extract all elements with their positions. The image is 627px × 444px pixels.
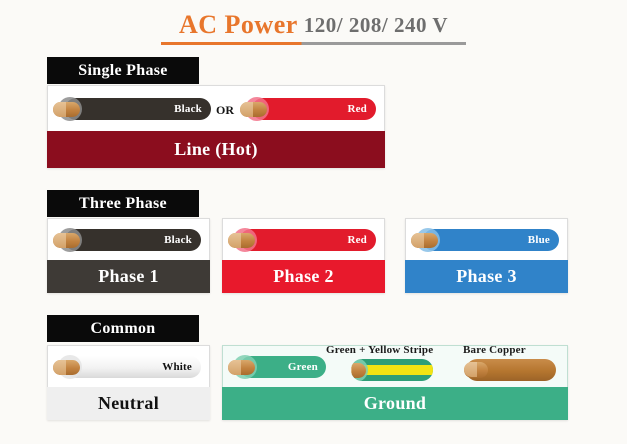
card-phase-2: Red Phase 2 (222, 218, 385, 293)
wire-label-green: Green (288, 361, 318, 373)
caption-neutral: Neutral (47, 387, 210, 420)
wire-single-phase-red: Red (252, 98, 376, 120)
section-header-single-phase: Single Phase (47, 57, 199, 84)
copper-conductor-tip-icon (240, 102, 267, 117)
section-header-three-phase: Three Phase (47, 190, 199, 217)
title-voltage-text: 120/ 208/ 240 V (304, 13, 448, 37)
caption-ground-label: Ground (364, 393, 427, 414)
copper-conductor-tip-icon (228, 233, 255, 248)
caption-phase-2: Phase 2 (222, 260, 385, 293)
card-ground: Green Green + Yellow Stripe Bare Copper … (222, 345, 568, 420)
caption-line-hot: Line (Hot) (47, 131, 385, 168)
card-neutral: White Neutral (47, 345, 210, 420)
copper-conductor-tip-icon (464, 362, 488, 378)
wire-phase-1-black: Black (65, 229, 201, 251)
wire-single-phase-black: Black (65, 98, 211, 120)
title-underline (161, 42, 466, 45)
card-phase-1: Black Phase 1 (47, 218, 210, 293)
phase-2-wire-panel: Red (222, 218, 385, 260)
caption-phase-3: Phase 3 (405, 260, 568, 293)
copper-conductor-tip-icon (351, 363, 366, 378)
phase-3-wire-panel: Blue (405, 218, 568, 260)
phase-1-wire-panel: Black (47, 218, 210, 260)
ground-wire-panel: Green Green + Yellow Stripe Bare Copper (222, 345, 568, 387)
caption-phase-1-label: Phase 1 (98, 266, 159, 287)
wire-label-black: Black (174, 103, 202, 115)
wire-neutral-white: White (65, 356, 201, 378)
caption-phase-3-label: Phase 3 (456, 266, 517, 287)
copper-conductor-tip-icon (411, 233, 438, 248)
caption-ground: Ground (222, 387, 568, 420)
copper-conductor-tip-icon (53, 233, 80, 248)
caption-phase-1: Phase 1 (47, 260, 210, 293)
title-main-text: AC Power (179, 10, 298, 39)
wire-label-bare-copper: Bare Copper (463, 344, 526, 356)
wire-label-white: White (162, 361, 192, 373)
caption-phase-2-label: Phase 2 (273, 266, 334, 287)
copper-conductor-tip-icon (228, 360, 255, 375)
wire-label-red: Red (347, 234, 367, 246)
section-header-common: Common (47, 315, 199, 342)
caption-neutral-label: Neutral (98, 393, 159, 414)
single-phase-wire-panel: Black OR Red (47, 85, 385, 131)
card-single-phase: Black OR Red Line (Hot) (47, 85, 385, 168)
separator-or-label: OR (216, 103, 234, 118)
wire-ground-bare-copper (466, 359, 556, 381)
wire-ground-green-yellow-stripe (351, 359, 433, 381)
copper-conductor-tip-icon (53, 360, 80, 375)
wire-phase-3-blue: Blue (423, 229, 559, 251)
wire-label-green-yellow-stripe: Green + Yellow Stripe (326, 344, 433, 356)
neutral-wire-panel: White (47, 345, 210, 387)
wire-phase-2-red: Red (240, 229, 376, 251)
wire-label-blue: Blue (528, 234, 550, 246)
copper-conductor-tip-icon (53, 102, 80, 117)
section-header-single-phase-label: Single Phase (78, 62, 167, 80)
section-header-three-phase-label: Three Phase (79, 195, 167, 213)
page-title: AC Power120/ 208/ 240 V (0, 10, 627, 45)
section-header-common-label: Common (91, 320, 156, 338)
wire-ground-green: Green (240, 356, 326, 378)
wiring-color-code-diagram: AC Power120/ 208/ 240 V Single Phase Bla… (0, 0, 627, 444)
caption-line-hot-label: Line (Hot) (174, 139, 258, 160)
wire-label-black: Black (164, 234, 192, 246)
wire-label-red: Red (347, 103, 367, 115)
card-phase-3: Blue Phase 3 (405, 218, 568, 293)
